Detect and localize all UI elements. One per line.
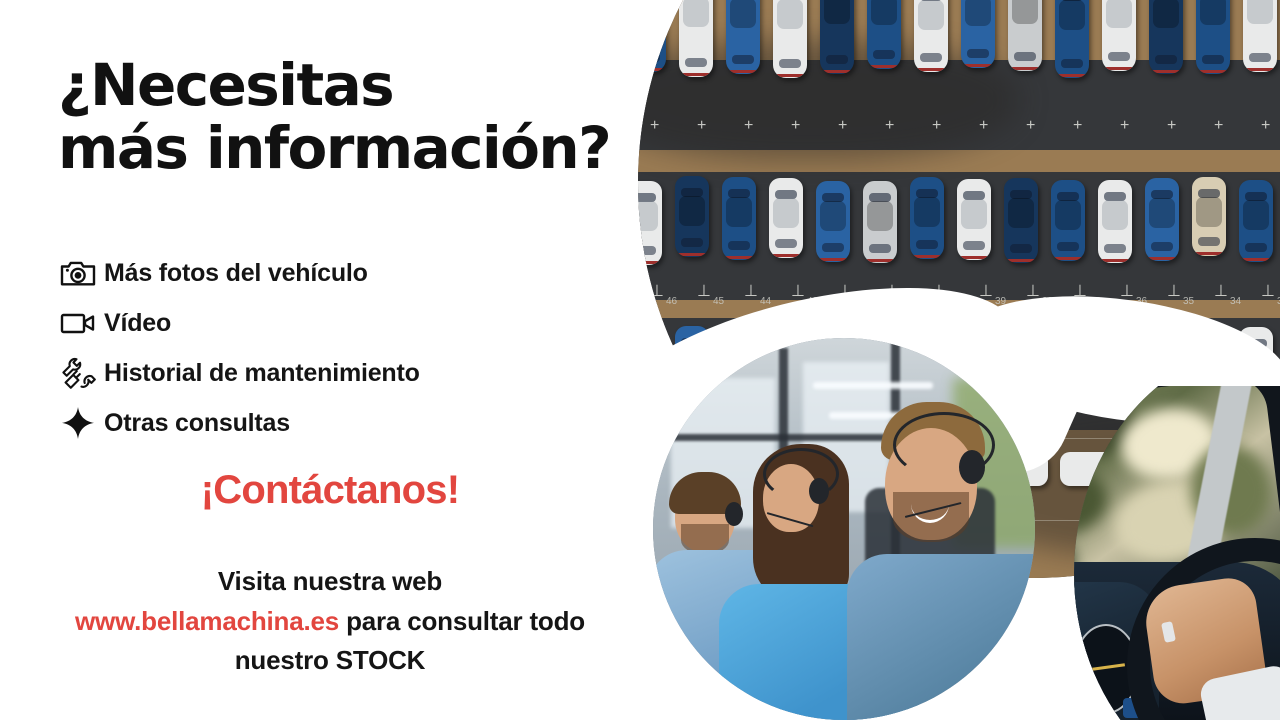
- promo-poster: +⊥46+⊥45+⊥44+⊥43+⊥42+⊥41+⊥40+⊥39+⊥38+⊥37…: [0, 0, 1280, 720]
- parking-tick-mark: ⊥: [791, 284, 805, 300]
- lot-car: [726, 0, 760, 74]
- list-item: Más fotos del vehículo: [52, 248, 652, 298]
- list-item-label: Vídeo: [104, 309, 171, 338]
- parking-tick-mark: +: [1073, 118, 1082, 134]
- parking-tick-mark: +: [1026, 118, 1035, 134]
- lot-car: [1196, 0, 1230, 74]
- wrench-hand-icon: [52, 352, 104, 394]
- agent-front: [853, 398, 1035, 720]
- content-column: ¿Necesitas más información? Más fotos de…: [0, 0, 680, 720]
- headline-line-2: más información?: [58, 117, 678, 180]
- lot-car: [820, 0, 854, 74]
- parking-tick-mark: +: [1261, 118, 1270, 134]
- parking-tick-mark: +: [697, 118, 706, 134]
- lot-car: [863, 181, 897, 263]
- feature-list: Más fotos del vehículo Vídeo: [52, 248, 652, 448]
- lot-car: [1149, 0, 1183, 74]
- lot-car: [1008, 0, 1042, 71]
- headline-line-1: ¿Necesitas: [58, 51, 393, 119]
- web-line-1: Visita nuestra web: [0, 562, 660, 602]
- list-item: Otras consultas: [52, 398, 652, 448]
- web-line-2: www.bellamachina.es para consultar todo: [0, 602, 660, 642]
- lot-car: [1243, 0, 1277, 72]
- lot-car: [679, 0, 713, 77]
- web-line-3: nuestro STOCK: [0, 641, 660, 681]
- lot-car: [1051, 180, 1085, 261]
- parking-tick-mark: +: [791, 118, 800, 134]
- lot-car: [1239, 180, 1273, 262]
- page-title: ¿Necesitas más información?: [58, 54, 678, 179]
- parking-tick-mark: +: [744, 118, 753, 134]
- parking-tick-mark: +: [1214, 118, 1223, 134]
- cta-text: ¡Contáctanos!: [0, 468, 660, 513]
- list-item-label: Otras consultas: [104, 409, 290, 438]
- lot-car: [1145, 178, 1179, 261]
- web-info-block: Visita nuestra web www.bellamachina.es p…: [0, 562, 660, 681]
- list-item: Vídeo: [52, 298, 652, 348]
- lot-car: [773, 0, 807, 78]
- lot-car: [769, 178, 803, 258]
- parking-tick-mark: +: [1167, 118, 1176, 134]
- parking-tick-mark: ⊥: [1214, 284, 1228, 300]
- parking-stall-number: 34: [1230, 296, 1241, 307]
- list-item-label: Historial de mantenimiento: [104, 359, 420, 388]
- lot-car: [957, 179, 991, 260]
- parking-tick-mark: +: [1120, 118, 1129, 134]
- list-item: Historial de mantenimiento: [52, 348, 652, 398]
- lot-car: [1192, 177, 1226, 256]
- lot-car: [1055, 0, 1089, 78]
- parking-tick-mark: +: [885, 118, 894, 134]
- parking-tick-mark: ⊥: [744, 284, 758, 300]
- lot-car: [1102, 0, 1136, 71]
- lot-car: [722, 177, 756, 260]
- lot-car: [1098, 180, 1132, 263]
- callcenter-photo: [653, 338, 1035, 720]
- lot-car: [910, 177, 944, 259]
- lot-car: [1004, 178, 1038, 263]
- video-camera-icon: [52, 302, 104, 344]
- lot-car: [867, 0, 901, 69]
- lot-car: [675, 176, 709, 257]
- parking-tick-mark: +: [838, 118, 847, 134]
- parking-stall-number: 45: [713, 296, 724, 307]
- parking-tick-mark: +: [979, 118, 988, 134]
- sparkle-icon: [52, 402, 104, 444]
- parking-tick-mark: ⊥: [1167, 284, 1181, 300]
- parking-tick-mark: ⊥: [1120, 284, 1134, 300]
- parking-stall-number: 44: [760, 296, 771, 307]
- web-line-2-rest: para consultar todo: [339, 606, 585, 636]
- lot-car: [914, 0, 948, 72]
- list-item-label: Más fotos del vehículo: [104, 259, 368, 288]
- parking-tick-mark: ⊥: [697, 284, 711, 300]
- parking-tick-mark: +: [932, 118, 941, 134]
- lot-car: [961, 0, 995, 68]
- lot-car: [816, 181, 850, 262]
- parking-tick-mark: ⊥: [1261, 284, 1275, 300]
- parking-stall-number: 35: [1183, 296, 1194, 307]
- camera-icon: [52, 252, 104, 294]
- website-url[interactable]: www.bellamachina.es: [75, 606, 339, 636]
